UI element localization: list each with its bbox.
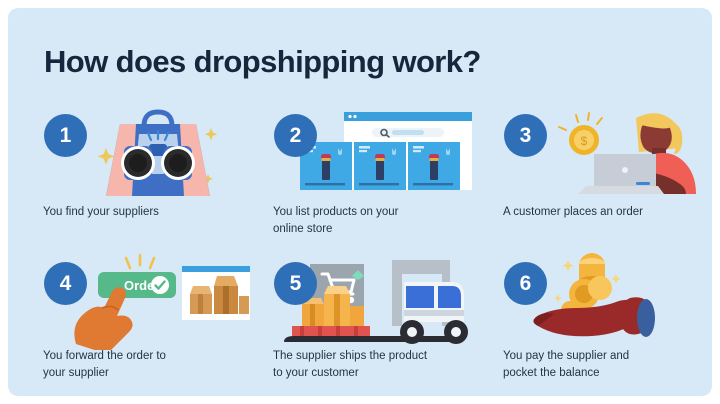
step-4-caption: You forward the order to your supplier — [43, 348, 258, 381]
step-1-caption: You find your suppliers — [43, 204, 258, 221]
step-3-number: 3 — [504, 114, 547, 157]
step-3-caption: A customer places an order — [503, 204, 718, 221]
step-1-number: 1 — [44, 114, 87, 157]
step-3: $ — [496, 100, 720, 248]
step-6-caption: You pay the supplier and pocket the bala… — [503, 348, 718, 381]
svg-text:$: $ — [581, 134, 588, 148]
step-5-number: 5 — [274, 262, 317, 305]
step-2-number: 2 — [274, 114, 317, 157]
steps-row-top: 1 You find your suppliers — [8, 100, 712, 248]
step-2-caption: You list products on your online store — [273, 204, 488, 237]
infographic-panel: How does dropshipping work? — [8, 8, 712, 396]
step-1: 1 You find your suppliers — [36, 100, 261, 248]
step-4-number: 4 — [44, 262, 87, 305]
steps-grid: 1 You find your suppliers — [8, 100, 712, 396]
step-6: 6 You pay the supplier and pocket the ba… — [496, 248, 720, 396]
step-5-caption: The supplier ships the product to your c… — [273, 348, 488, 381]
step-6-number: 6 — [504, 262, 547, 305]
step-5: 5 The supplier ships the product to your… — [266, 248, 491, 396]
page-title: How does dropshipping work? — [44, 44, 481, 80]
step-4: Order 4 You forward the order to your su… — [36, 248, 261, 396]
steps-row-bottom: Order 4 You forward the order to your su… — [8, 248, 712, 396]
step-2: 2 You list products on your online store — [266, 100, 491, 248]
